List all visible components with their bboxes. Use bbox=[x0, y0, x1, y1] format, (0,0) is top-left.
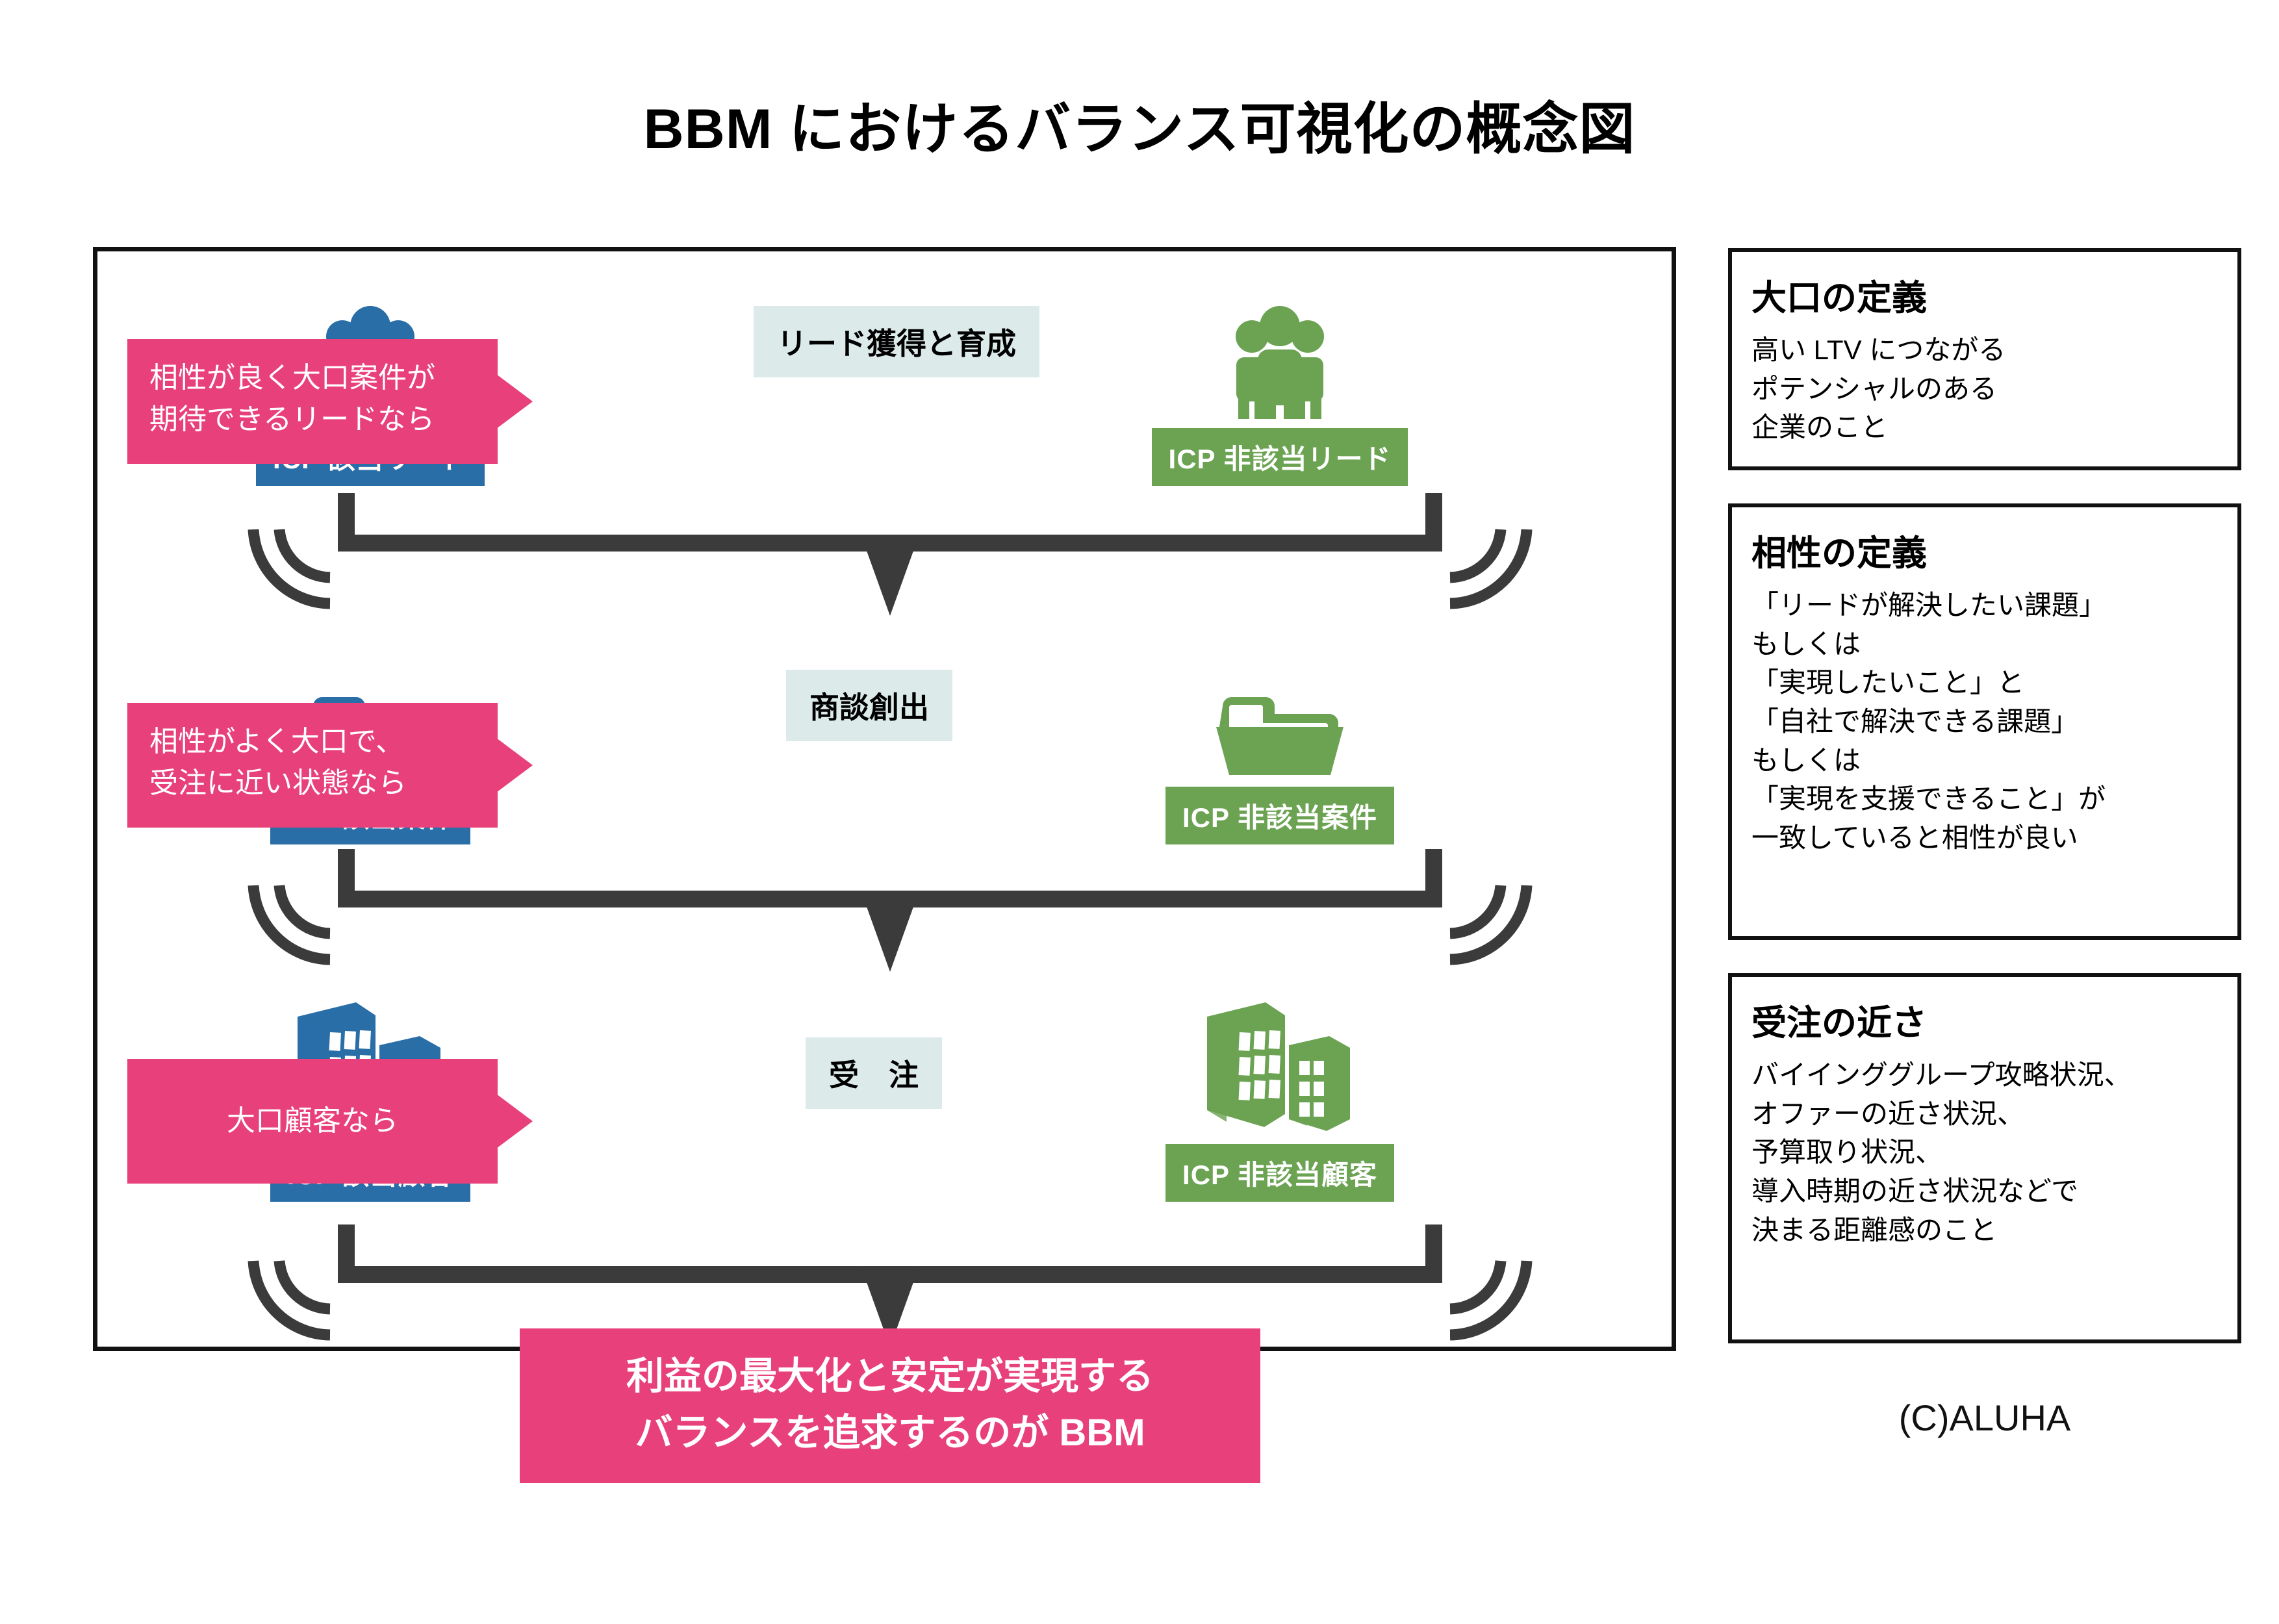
definition-line: 導入時期の近さ状況などで bbox=[1751, 1172, 2218, 1211]
page-title: BBM におけるバランス可視化の概念図 bbox=[0, 83, 2279, 164]
people-group-icon bbox=[1143, 283, 1416, 419]
definition-body: 「リードが解決したい課題」 もしくは 「実現したいこと」と 「自社で解決できる課… bbox=[1751, 586, 2218, 857]
definition-line: 一致していると相性が良い bbox=[1751, 818, 2218, 857]
fulcrum-triangle-lead bbox=[861, 535, 919, 616]
definition-line: 「実現したいこと」と bbox=[1751, 663, 2218, 702]
banner-line1: 利益の最大化と安定が実現する bbox=[520, 1348, 1260, 1404]
stage-label-customer: 受 注 bbox=[806, 1037, 942, 1109]
definition-line: もしくは bbox=[1751, 625, 2218, 664]
callout-lead-line1: 相性が良く大口案件が bbox=[149, 357, 476, 399]
pan-label-non-icp-customer: ICP 非該当顧客 bbox=[1165, 1144, 1394, 1202]
definition-title: 大口の定義 bbox=[1751, 269, 2218, 320]
diagram-canvas: BBM におけるバランス可視化の概念図 bbox=[0, 0, 2279, 1624]
stage-label-lead: リード獲得と育成 bbox=[754, 306, 1039, 377]
callout-opportunity-line2: 受注に近い状態なら bbox=[149, 763, 476, 804]
swing-arc-left bbox=[247, 1256, 351, 1360]
buildings-icon bbox=[1143, 998, 1416, 1135]
bottom-summary-banner: 利益の最大化と安定が実現する バランスを追求するのが BBM bbox=[520, 1328, 1260, 1483]
definition-line: 決まる距離感のこと bbox=[1751, 1211, 2218, 1250]
pan-non-icp-lead: ICP 非該当リード bbox=[1143, 283, 1416, 486]
swing-arc-right bbox=[1429, 880, 1533, 984]
pan-label-non-icp-opportunity: ICP 非該当案件 bbox=[1165, 787, 1394, 844]
definition-line: オファーの近さ状況、 bbox=[1751, 1095, 2218, 1134]
swing-arc-right bbox=[1429, 1256, 1533, 1360]
pan-non-icp-opportunity: ICP 非該当案件 bbox=[1143, 641, 1416, 844]
definition-line: 「リードが解決したい課題」 bbox=[1751, 586, 2218, 625]
fulcrum-triangle-opportunity bbox=[861, 891, 919, 972]
definition-body: 高い LTV につながる ポテンシャルのある 企業のこと bbox=[1751, 331, 2218, 447]
definition-line: 予算取り状況、 bbox=[1751, 1133, 2218, 1172]
callout-tail bbox=[496, 374, 533, 429]
definition-line: 企業のこと bbox=[1751, 408, 2218, 447]
definition-box-compatibility: 相性の定義 「リードが解決したい課題」 もしくは 「実現したいこと」と 「自社で… bbox=[1728, 503, 2241, 940]
callout-customer: 大口顧客なら bbox=[127, 1059, 498, 1184]
copyright-notice: (C)ALUHA bbox=[1728, 1397, 2241, 1439]
swing-arc-left bbox=[247, 880, 351, 984]
definition-line: バイインググループ攻略状況、 bbox=[1751, 1056, 2218, 1095]
swing-arc-left bbox=[247, 524, 351, 628]
callout-tail bbox=[496, 738, 533, 793]
definition-line: 「実現を支援できること」が bbox=[1751, 780, 2218, 818]
definition-line: 高い LTV につながる bbox=[1751, 331, 2218, 370]
definition-title: 受注の近さ bbox=[1751, 994, 2218, 1045]
definition-body: バイインググループ攻略状況、 オファーの近さ状況、 予算取り状況、 導入時期の近… bbox=[1751, 1056, 2218, 1249]
callout-opportunity: 相性がよく大口で、 受注に近い状態なら bbox=[127, 703, 498, 828]
definition-line: もしくは bbox=[1751, 741, 2218, 780]
swing-arc-right bbox=[1429, 524, 1533, 628]
pan-label-non-icp-lead: ICP 非該当リード bbox=[1152, 428, 1408, 486]
banner-line2: バランスを追求するのが BBM bbox=[520, 1404, 1260, 1461]
definition-title: 相性の定義 bbox=[1751, 524, 2218, 576]
callout-customer-line1: 大口顧客なら bbox=[149, 1100, 476, 1142]
folder-open-icon bbox=[1143, 641, 1416, 778]
definition-box-large-account: 大口の定義 高い LTV につながる ポテンシャルのある 企業のこと bbox=[1728, 248, 2241, 470]
callout-lead-line2: 期待できるリードなら bbox=[149, 399, 476, 440]
definition-line: ポテンシャルのある bbox=[1751, 370, 2218, 409]
definition-box-deal-proximity: 受注の近さ バイインググループ攻略状況、 オファーの近さ状況、 予算取り状況、 … bbox=[1728, 973, 2241, 1343]
callout-opportunity-line1: 相性がよく大口で、 bbox=[149, 721, 476, 763]
callout-lead: 相性が良く大口案件が 期待できるリードなら bbox=[127, 339, 498, 464]
stage-label-opportunity: 商談創出 bbox=[786, 670, 952, 741]
pan-non-icp-customer: ICP 非該当顧客 bbox=[1143, 998, 1416, 1202]
callout-tail bbox=[496, 1094, 533, 1148]
definition-line: 「自社で解決できる課題」 bbox=[1751, 702, 2218, 741]
